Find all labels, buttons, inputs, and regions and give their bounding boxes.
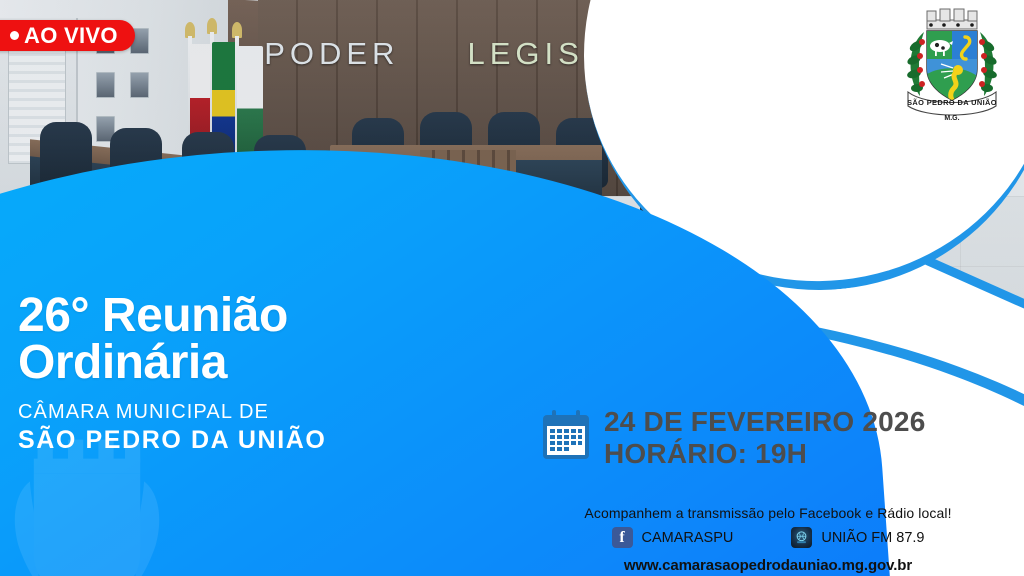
headline-sub2: SÃO PEDRO DA UNIÃO <box>18 426 488 455</box>
channel-facebook-label: CAMARASPU <box>642 530 734 546</box>
live-badge-label: AO VIVO <box>24 23 118 49</box>
headline-line1: 26° Reunião <box>18 292 488 339</box>
coat-banner-text: SÃO PEDRO DA UNIÃO <box>907 98 997 107</box>
coat-state-abbr: M.G. <box>944 115 959 122</box>
headline-line2: Ordinária <box>18 339 488 386</box>
channel-radio[interactable]: UNIÃO FM 87.9 <box>791 527 924 548</box>
radio-logo-icon <box>791 527 812 548</box>
flyer-canvas: PODER LEGISLATIVO <box>0 0 1024 576</box>
live-bullet-icon <box>10 31 19 40</box>
live-badge[interactable]: AO VIVO <box>0 20 135 51</box>
headline-block: 26° Reunião Ordinária CÂMARA MUNICIPAL D… <box>18 292 488 455</box>
footer-cta: Acompanhem a transmissão pelo Facebook e… <box>512 505 1024 521</box>
facebook-icon: f <box>612 527 633 548</box>
calendar-icon <box>542 410 590 460</box>
event-date-block: 24 DE FEVEREIRO 2026 HORÁRIO: 19H <box>542 406 925 469</box>
event-date: 24 DE FEVEREIRO 2026 <box>604 406 925 438</box>
footer-channels: f CAMARASPU UNIÃO FM 87.9 <box>512 527 1024 548</box>
event-date-text: 24 DE FEVEREIRO 2026 HORÁRIO: 19H <box>604 406 925 469</box>
headline-sub1: CÂMARA MUNICIPAL DE <box>18 401 488 424</box>
event-time: HORÁRIO: 19H <box>604 438 925 470</box>
coat-of-arms: SÃO PEDRO DA UNIÃO M.G. <box>886 2 1018 134</box>
footer-block: Acompanhem a transmissão pelo Facebook e… <box>512 505 1024 574</box>
channel-radio-label: UNIÃO FM 87.9 <box>821 530 924 546</box>
channel-facebook[interactable]: f CAMARASPU <box>612 527 734 548</box>
footer-website[interactable]: www.camarasaopedrodauniao.mg.gov.br <box>512 557 1024 574</box>
